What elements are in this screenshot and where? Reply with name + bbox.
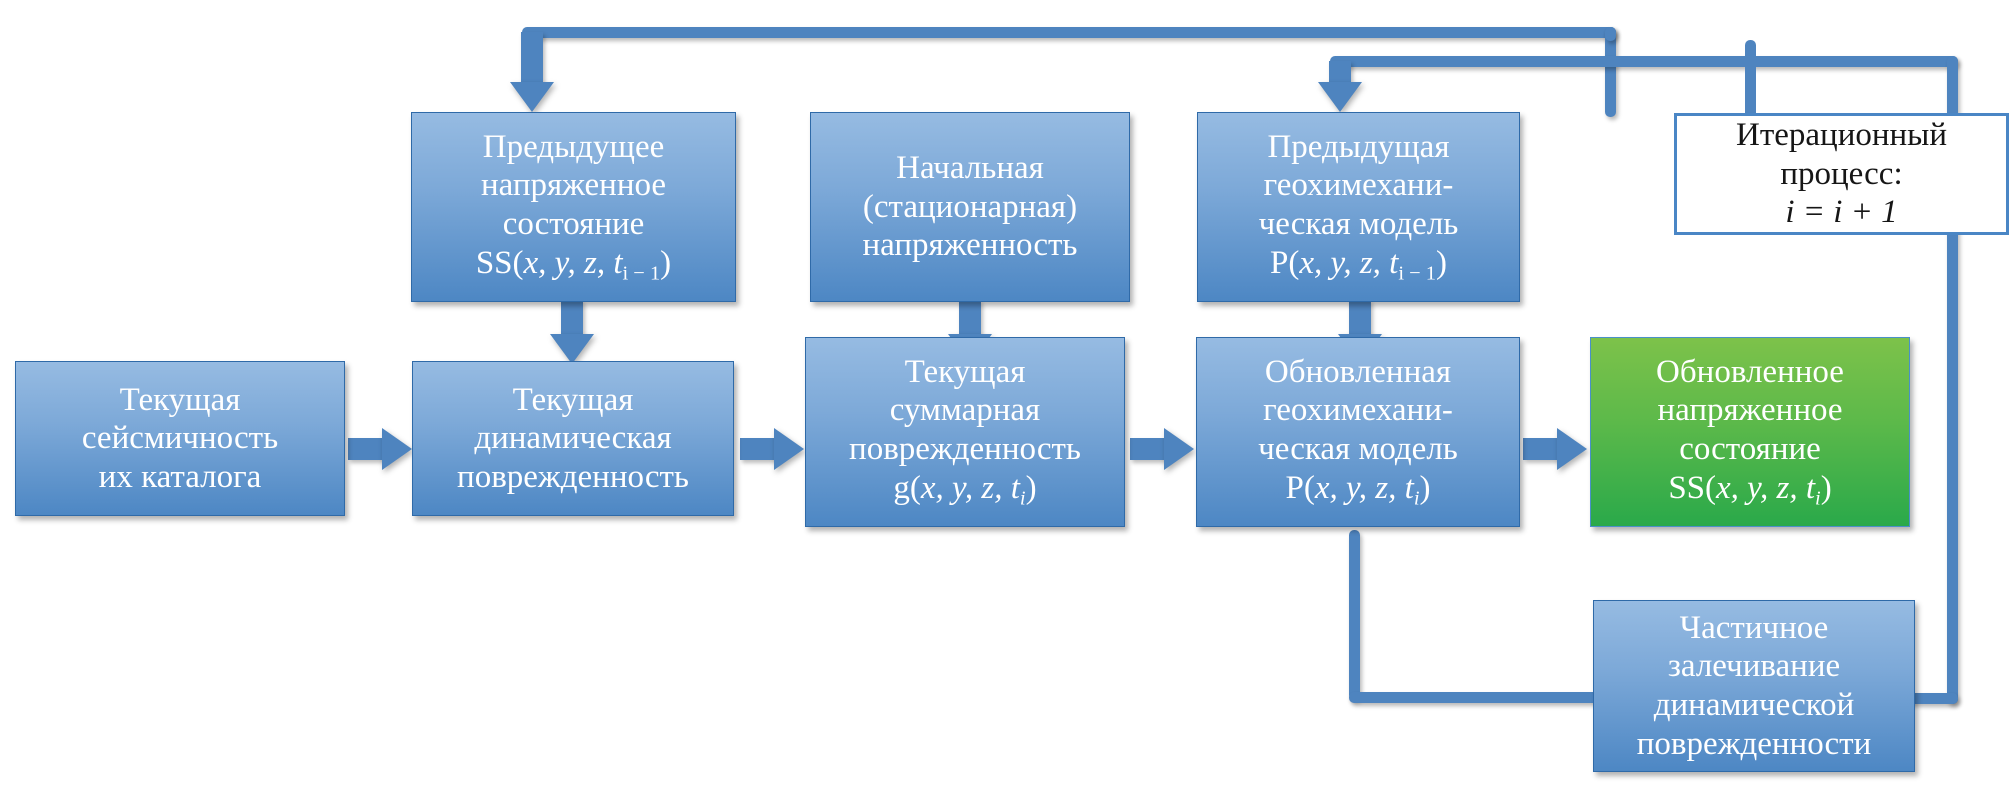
- arrow-to-current-dynamic-damage: [382, 428, 412, 470]
- line-1: Итерационный: [1736, 117, 1947, 153]
- connector-to-partial-healing: [1349, 692, 1599, 703]
- formula: SS(x, y, z, ti − 1): [476, 245, 671, 281]
- line-2: геохимехани-: [1263, 392, 1453, 428]
- connector-updated-stress-state-up: [1605, 27, 1616, 41]
- line-1: Текущая: [120, 382, 241, 418]
- arrow-into-prev-stress-state: [510, 82, 554, 112]
- formula: g(x, y, z, ti): [893, 470, 1036, 506]
- iteration-formula: i = i + 1: [1785, 194, 1897, 230]
- line-2: напряженное: [1657, 392, 1842, 428]
- line-1: Обновленная: [1265, 354, 1451, 390]
- node-current-dynamic-damage-text: Текущая динамическая поврежденность: [419, 381, 727, 497]
- line-1: Предыдущее: [483, 129, 665, 165]
- line-2: геохимехани-: [1264, 167, 1454, 203]
- node-initial-stress[interactable]: Начальная (стационарная) напряженность: [810, 112, 1130, 302]
- line-2: напряженное: [481, 167, 666, 203]
- line-2: залечивание: [1668, 648, 1840, 684]
- connector-feedback-top-rail: [522, 27, 1616, 38]
- connector-initial-stress-to-total-damage: [959, 300, 981, 338]
- connector-right-feedback-rail: [1330, 56, 1958, 67]
- flowchart-canvas: Предыдущее напряженное состояние SS(x, y…: [0, 0, 2015, 805]
- connector-feedback-top-left-drop: [521, 32, 543, 84]
- line-2: суммарная: [890, 392, 1040, 428]
- line-2: (стационарная): [863, 189, 1077, 225]
- line-1: Текущая: [513, 382, 634, 418]
- node-updated-stress-state-text: Обновленное напряженное состояние SS(x, …: [1597, 353, 1903, 511]
- connector-total-to-model: [1130, 438, 1168, 460]
- arrow-to-updated-stress-state: [1557, 428, 1587, 470]
- node-current-total-damage-text: Текущая суммарная поврежденность g(x, y,…: [812, 353, 1118, 511]
- node-current-seismicity-text: Текущая сейсмичность их каталога: [22, 381, 338, 497]
- line-3: напряженность: [863, 227, 1078, 263]
- line-1: Предыдущая: [1267, 129, 1449, 165]
- line-3: состояние: [1679, 431, 1821, 467]
- line-3: состояние: [503, 206, 645, 242]
- node-current-dynamic-damage[interactable]: Текущая динамическая поврежденность: [412, 361, 734, 516]
- line-3: поврежденность: [457, 459, 689, 495]
- arrow-into-current-dynamic-damage: [550, 334, 594, 364]
- line-3: ческая модель: [1259, 206, 1459, 242]
- node-updated-model[interactable]: Обновленная геохимехани- ческая модель P…: [1196, 337, 1520, 527]
- formula: P(x, y, z, ti − 1): [1270, 245, 1447, 281]
- node-prev-stress-state[interactable]: Предыдущее напряженное состояние SS(x, y…: [411, 112, 736, 302]
- connector-dynamic-to-total: [740, 438, 778, 460]
- connector-iteration-note-left-tether: [1745, 40, 1756, 120]
- formula: SS(x, y, z, ti): [1668, 470, 1831, 506]
- node-prev-stress-state-text: Предыдущее напряженное состояние SS(x, y…: [418, 128, 729, 286]
- node-iteration-note-text: Итерационный процесс: i = i + 1: [1683, 116, 2000, 232]
- node-partial-healing[interactable]: Частичное залечивание динамической повре…: [1593, 600, 1915, 772]
- line-3: динамической: [1654, 687, 1855, 723]
- formula: P(x, y, z, ti): [1285, 470, 1430, 506]
- connector-model-to-stress-state: [1523, 438, 1561, 460]
- connector-prev-model-to-updated-model: [1349, 300, 1371, 338]
- line-2: процесс:: [1780, 156, 1902, 192]
- connector-updated-model-down: [1349, 530, 1360, 700]
- line-3: ческая модель: [1258, 431, 1458, 467]
- node-current-seismicity[interactable]: Текущая сейсмичность их каталога: [15, 361, 345, 516]
- line-1: Частичное: [1680, 610, 1829, 646]
- arrow-to-updated-model: [1164, 428, 1194, 470]
- line-1: Текущая: [905, 354, 1026, 390]
- node-iteration-note[interactable]: Итерационный процесс: i = i + 1: [1674, 113, 2009, 235]
- node-updated-model-text: Обновленная геохимехани- ческая модель P…: [1203, 353, 1513, 511]
- line-2: динамическая: [474, 420, 671, 456]
- line-3: их каталога: [99, 459, 262, 495]
- arrow-to-current-total-damage: [774, 428, 804, 470]
- node-prev-model-text: Предыдущая геохимехани- ческая модель P(…: [1204, 128, 1513, 286]
- node-initial-stress-text: Начальная (стационарная) напряженность: [817, 149, 1123, 265]
- line-4: поврежденности: [1637, 726, 1872, 762]
- line-1: Начальная: [896, 150, 1044, 186]
- line-3: поврежденность: [849, 431, 1081, 467]
- connector-prev-stress-to-dynamic: [561, 300, 583, 338]
- line-2: сейсмичность: [82, 420, 278, 456]
- connector-seismicity-to-dynamic: [348, 438, 386, 460]
- node-prev-model[interactable]: Предыдущая геохимехани- ческая модель P(…: [1197, 112, 1520, 302]
- arrow-into-prev-model: [1318, 82, 1362, 112]
- node-current-total-damage[interactable]: Текущая суммарная поврежденность g(x, y,…: [805, 337, 1125, 527]
- node-partial-healing-text: Частичное залечивание динамической повре…: [1600, 609, 1908, 763]
- node-updated-stress-state[interactable]: Обновленное напряженное состояние SS(x, …: [1590, 337, 1910, 527]
- line-1: Обновленное: [1656, 354, 1844, 390]
